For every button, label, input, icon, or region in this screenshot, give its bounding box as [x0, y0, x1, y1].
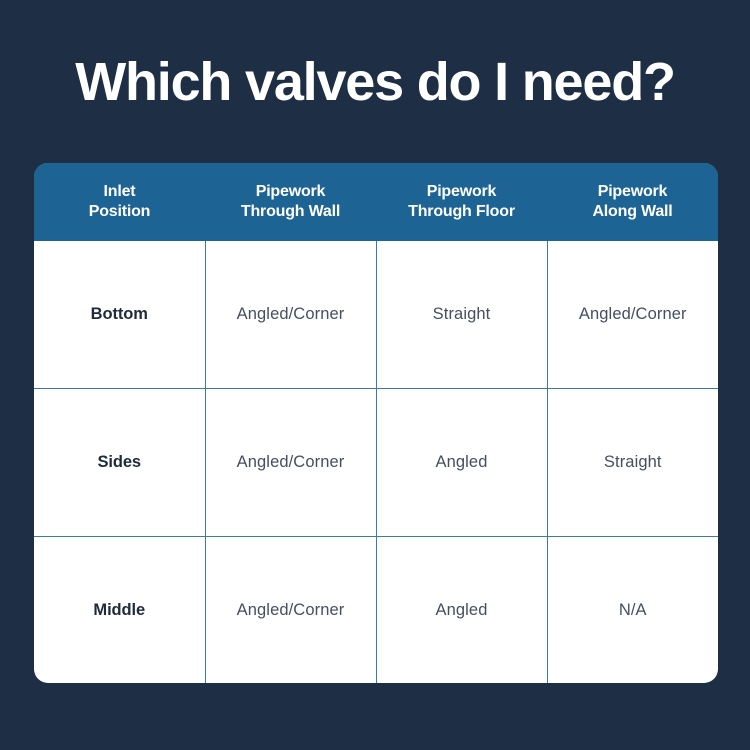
row-label-bottom: Bottom [34, 241, 205, 389]
table-row: Middle Angled/Corner Angled N/A [34, 537, 718, 684]
table-row: Bottom Angled/Corner Straight Angled/Cor… [34, 241, 718, 389]
column-header-inlet-position: Inlet Position [34, 163, 205, 241]
cell-sides-along-wall: Straight [547, 389, 718, 537]
valve-selection-table-card: Inlet Position Pipework Through Wall Pip… [34, 163, 718, 683]
row-label-sides: Sides [34, 389, 205, 537]
cell-sides-through-wall: Angled/Corner [205, 389, 376, 537]
cell-bottom-through-floor: Straight [376, 241, 547, 389]
cell-sides-through-floor: Angled [376, 389, 547, 537]
table-row: Sides Angled/Corner Angled Straight [34, 389, 718, 537]
cell-middle-along-wall: N/A [547, 537, 718, 684]
infographic-page: Which valves do I need? Inlet Position P… [0, 0, 750, 750]
row-label-middle: Middle [34, 537, 205, 684]
table-header: Inlet Position Pipework Through Wall Pip… [34, 163, 718, 241]
column-header-pipework-along-wall: Pipework Along Wall [547, 163, 718, 241]
column-header-line-1: Pipework [211, 182, 370, 202]
column-header-pipework-through-wall: Pipework Through Wall [205, 163, 376, 241]
column-header-line-1: Inlet [40, 182, 199, 202]
column-header-line-1: Pipework [382, 182, 541, 202]
column-header-line-2: Through Floor [382, 202, 541, 222]
cell-middle-through-floor: Angled [376, 537, 547, 684]
cell-bottom-through-wall: Angled/Corner [205, 241, 376, 389]
table-body: Bottom Angled/Corner Straight Angled/Cor… [34, 241, 718, 683]
table-header-row: Inlet Position Pipework Through Wall Pip… [34, 163, 718, 241]
column-header-line-1: Pipework [553, 182, 712, 202]
cell-bottom-along-wall: Angled/Corner [547, 241, 718, 389]
valve-selection-table: Inlet Position Pipework Through Wall Pip… [34, 163, 718, 683]
column-header-line-2: Along Wall [553, 202, 712, 222]
cell-middle-through-wall: Angled/Corner [205, 537, 376, 684]
column-header-pipework-through-floor: Pipework Through Floor [376, 163, 547, 241]
column-header-line-2: Position [40, 202, 199, 222]
column-header-line-2: Through Wall [211, 202, 370, 222]
page-title: Which valves do I need? [0, 52, 750, 112]
